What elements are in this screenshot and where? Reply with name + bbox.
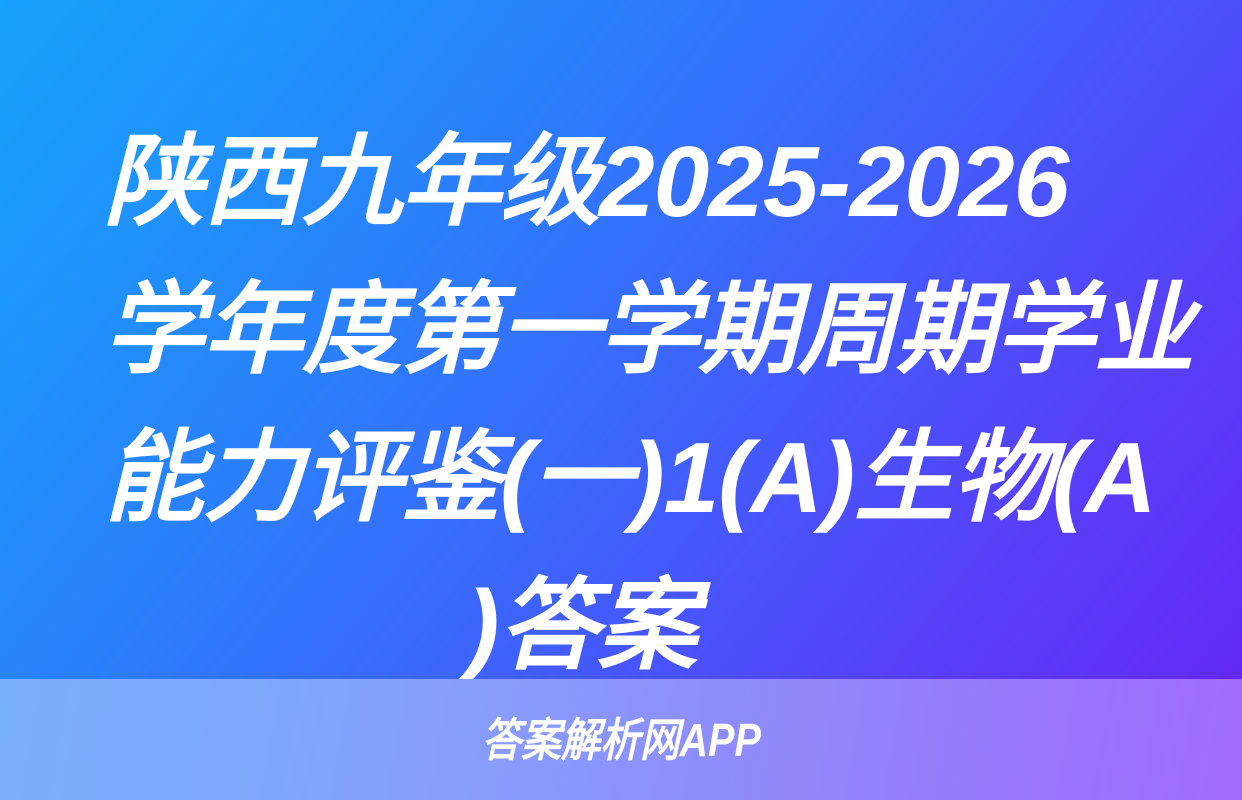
title-line-1: 陕西九年级2025-2026 xyxy=(104,108,1174,256)
poster-canvas: 陕西九年级2025-2026 学年度第一学期周期学业 能力评鉴(一)1(A)生物… xyxy=(0,0,1242,800)
footer-brand-bar: 答案解析网APP xyxy=(0,679,1242,800)
title-line-2: 学年度第一学期周期学业 xyxy=(104,256,1174,404)
brand-label: 答案解析网APP xyxy=(481,717,760,763)
title-line-4: )答案 xyxy=(104,552,1174,700)
page-title: 陕西九年级2025-2026 学年度第一学期周期学业 能力评鉴(一)1(A)生物… xyxy=(104,108,1174,700)
title-line-3: 能力评鉴(一)1(A)生物(A xyxy=(104,404,1174,552)
